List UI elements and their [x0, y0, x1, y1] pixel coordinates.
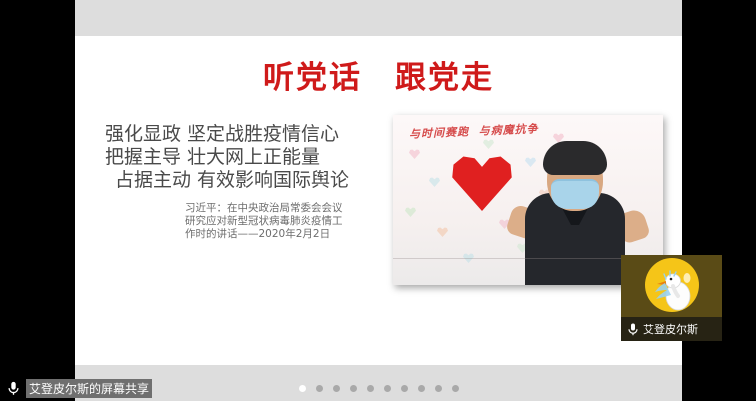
face-mask-icon: [551, 179, 599, 209]
meeting-screen-share-view: 听党话 跟党走 强化显政 坚定战胜疫情信心 把握主导 壮大网上正能量 占据主动 …: [0, 0, 756, 401]
slide-pager-dot[interactable]: [435, 385, 442, 392]
slide-pager-dot[interactable]: [299, 385, 306, 392]
slide-pager-dot[interactable]: [333, 385, 340, 392]
slide-pager[interactable]: [75, 383, 682, 393]
slide-title: 听党话 跟党走: [75, 52, 682, 97]
slide-pager-dot[interactable]: [316, 385, 323, 392]
screen-share-status: 艾登皮尔斯的屏幕共享: [0, 375, 152, 401]
microphone-icon[interactable]: [8, 381, 19, 396]
shared-screen-region[interactable]: 听党话 跟党走 强化显政 坚定战胜疫情信心 把握主导 壮大网上正能量 占据主动 …: [75, 0, 682, 401]
slide-canvas[interactable]: 听党话 跟党走 强化显政 坚定战胜疫情信心 把握主导 壮大网上正能量 占据主动 …: [75, 36, 682, 365]
slide-pager-dot[interactable]: [418, 385, 425, 392]
screen-share-status-label: 艾登皮尔斯的屏幕共享: [26, 379, 152, 398]
slide-attribution-line-3: 作时的讲话——2020年2月2日: [185, 228, 385, 241]
participant-video-tile[interactable]: 艾登皮尔斯: [621, 255, 722, 341]
slide-attribution-line-1: 习近平：在中央政治局常委会会议: [185, 202, 385, 215]
slide-attribution-line-2: 研究应对新型冠状病毒肺炎疫情工: [185, 215, 385, 228]
presentation-top-band: [75, 0, 682, 36]
slide-pager-dot[interactable]: [367, 385, 374, 392]
avatar: [645, 258, 699, 312]
slide-pager-dot[interactable]: [452, 385, 459, 392]
slide-attribution: 习近平：在中央政治局常委会会议 研究应对新型冠状病毒肺炎疫情工 作时的讲话——2…: [185, 202, 385, 241]
slide-pager-dot[interactable]: [350, 385, 357, 392]
slide-pager-dot[interactable]: [401, 385, 408, 392]
slide-pager-dot[interactable]: [384, 385, 391, 392]
tile-name-bar: 艾登皮尔斯: [621, 317, 722, 341]
microphone-icon: [628, 323, 638, 336]
slide-body-line-1: 强化显政 坚定战胜疫情信心: [105, 123, 405, 146]
participant-name-label: 艾登皮尔斯: [643, 321, 698, 337]
slide-body-line-2: 把握主导 壮大网上正能量: [105, 146, 405, 169]
slide-body-text: 强化显政 坚定战胜疫情信心 把握主导 壮大网上正能量 占据主动 有效影响国际舆论: [105, 123, 405, 192]
slide-body-line-3: 占据主动 有效影响国际舆论: [105, 169, 405, 192]
presentation-bottom-band: [75, 365, 682, 401]
goose-avatar-icon: [651, 266, 697, 312]
person-hair: [543, 141, 607, 175]
